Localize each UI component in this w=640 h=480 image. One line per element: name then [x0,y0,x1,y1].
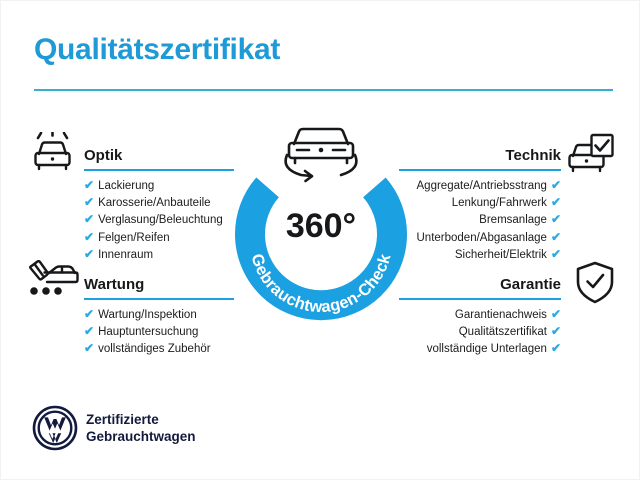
shield-check-icon [574,261,616,305]
section-wartung-divider [84,298,234,300]
list-item: ✔Verglasung/Beleuchtung [84,211,234,228]
footer-logo-line2: Gebrauchtwagen [86,428,196,445]
list-item: Sicherheit/Elektrik✔ [399,246,561,263]
section-wartung-items: ✔Wartung/Inspektion ✔Hauptuntersuchung ✔… [84,306,234,358]
title-divider [34,89,613,91]
check-icon: ✔ [551,247,561,261]
list-item-label: Hauptuntersuchung [98,326,198,338]
check-icon: ✔ [551,178,561,192]
list-item-label: Felgen/Reifen [98,232,170,244]
list-item: ✔Hauptuntersuchung [84,323,234,340]
section-garantie-title: Garantie [500,276,561,293]
check-icon: ✔ [84,324,94,338]
section-optik-divider [84,169,234,171]
list-item: ✔Karosserie/Anbauteile [84,194,234,211]
check-icon: ✔ [84,307,94,321]
footer-logo-line1: Zertifizierte [86,411,196,428]
check-icon: ✔ [84,341,94,355]
list-item-label: Innenraum [98,249,153,261]
list-item: vollständige Unterlagen✔ [399,340,561,357]
section-technik-title: Technik [505,147,561,164]
check-icon: ✔ [551,230,561,244]
check-icon: ✔ [84,212,94,226]
badge-360-check: Gebrauchtwagen-Check [233,123,409,323]
list-item-label: Verglasung/Beleuchtung [98,214,223,226]
page-title: Qualitätszertifikat [34,33,280,67]
section-garantie-header: Garantie [399,270,561,300]
check-icon: ✔ [84,178,94,192]
list-item-label: vollständiges Zubehör [98,343,211,355]
section-optik: Optik ✔Lackierung ✔Karosserie/Anbauteile… [84,141,234,263]
list-item: ✔Felgen/Reifen [84,229,234,246]
car-rotate-icon [286,129,357,181]
check-icon: ✔ [551,195,561,209]
list-item-label: Aggregate/Antriebsstrang [417,180,547,192]
list-item-label: Bremsanlage [479,214,547,226]
section-technik-divider [399,169,561,171]
check-icon: ✔ [84,230,94,244]
section-optik-title: Optik [84,147,122,164]
section-wartung: Wartung ✔Wartung/Inspektion ✔Hauptunters… [84,270,234,358]
badge-center-label: 360° [233,207,409,246]
section-optik-items: ✔Lackierung ✔Karosserie/Anbauteile ✔Verg… [84,177,234,263]
section-technik-items: Aggregate/Antriebsstrang✔ Lenkung/Fahrwe… [399,177,561,263]
section-technik: Technik Aggregate/Antriebsstrang✔ Lenkun… [399,141,561,263]
check-icon: ✔ [551,212,561,226]
car-checkbox-icon [567,133,615,175]
check-icon: ✔ [551,341,561,355]
list-item: Bremsanlage✔ [399,211,561,228]
list-item-label: Garantienachweis [455,309,547,321]
list-item: ✔vollständiges Zubehör [84,340,234,357]
check-icon: ✔ [551,307,561,321]
car-lift-icon [25,260,79,302]
check-icon: ✔ [84,195,94,209]
vw-logo [32,405,78,451]
list-item-label: vollständige Unterlagen [427,343,547,355]
certificate-page: Qualitätszertifikat Optik ✔Lackierung ✔K… [0,0,640,480]
list-item-label: Lackierung [98,180,154,192]
list-item-label: Karosserie/Anbauteile [98,197,211,209]
list-item: ✔Innenraum [84,246,234,263]
list-item-label: Wartung/Inspektion [98,309,197,321]
section-wartung-header: Wartung [84,270,234,300]
section-wartung-title: Wartung [84,276,144,293]
section-garantie-items: Garantienachweis✔ Qualitätszertifikat✔ v… [399,306,561,358]
list-item: Garantienachweis✔ [399,306,561,323]
list-item-label: Qualitätszertifikat [459,326,547,338]
list-item-label: Sicherheit/Elektrik [455,249,547,261]
check-icon: ✔ [551,324,561,338]
list-item-label: Lenkung/Fahrwerk [452,197,547,209]
list-item: Qualitätszertifikat✔ [399,323,561,340]
footer-logo-text: Zertifizierte Gebrauchtwagen [86,411,196,445]
footer-logo: Zertifizierte Gebrauchtwagen [32,405,262,457]
section-optik-header: Optik [84,141,234,171]
list-item: Lenkung/Fahrwerk✔ [399,194,561,211]
list-item: Aggregate/Antriebsstrang✔ [399,177,561,194]
car-shine-icon [28,132,78,174]
check-icon: ✔ [84,247,94,261]
list-item-label: Unterboden/Abgasanlage [417,232,547,244]
list-item: ✔Wartung/Inspektion [84,306,234,323]
section-technik-header: Technik [399,141,561,171]
list-item: ✔Lackierung [84,177,234,194]
section-garantie: Garantie Garantienachweis✔ Qualitätszert… [399,270,561,358]
list-item: Unterboden/Abgasanlage✔ [399,229,561,246]
section-garantie-divider [399,298,561,300]
